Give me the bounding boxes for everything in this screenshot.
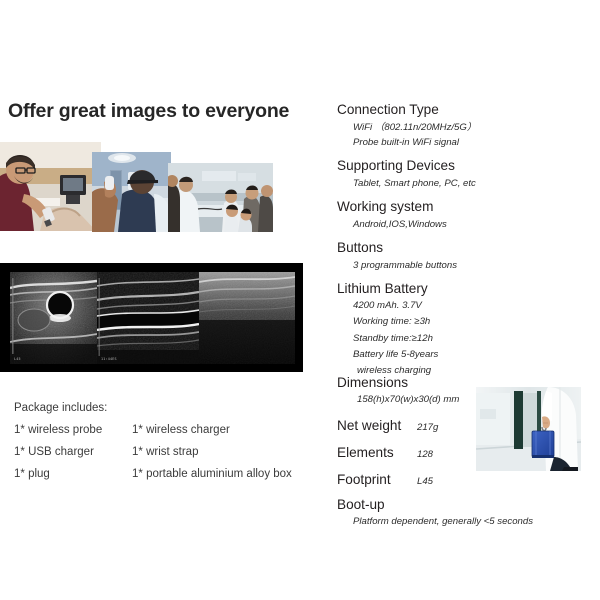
spec-key-footprint: Footprint (337, 472, 417, 487)
ultrasound-frame-muscle (199, 272, 295, 364)
spec-value-battery-standby-time: Standby time:≥12h (353, 333, 595, 344)
spec-value-footprint: L45 (417, 476, 433, 487)
group-training-session-photo (168, 163, 273, 232)
spec-value-connection-wifi: WiFi （802.11n/20MHz/5G） (353, 122, 595, 133)
package-item: 1* plug (14, 468, 132, 480)
package-item: 1* wireless charger (132, 424, 230, 436)
spec-value-elements: 128 (417, 449, 433, 460)
spec-value-buttons: 3 programmable buttons (353, 260, 595, 271)
spec-heading-connection-type: Connection Type (337, 103, 595, 117)
spec-value-battery-life: Battery life 5-8years (353, 349, 595, 360)
package-title: Package includes: (14, 402, 324, 414)
spec-heading-working-system: Working system (337, 200, 595, 214)
clinician-holding-probe-photo (92, 152, 171, 232)
package-item: 1* USB charger (14, 446, 132, 458)
spec-heading-lithium-battery: Lithium Battery (337, 282, 595, 296)
spec-heading-boot-up: Boot-up (337, 498, 595, 512)
spec-value-boot-up: Platform dependent, generally <5 seconds (353, 516, 595, 527)
spec-value-battery-working-time: Working time: ≥3h (353, 316, 595, 327)
package-item: 1* wrist strap (132, 446, 198, 458)
spec-value-net-weight: 217g (417, 422, 438, 433)
spec-heading-supporting-devices: Supporting Devices (337, 159, 595, 173)
ultrasound-frame-tag: L45 (14, 357, 21, 361)
package-item: 1* wireless probe (14, 424, 132, 436)
spec-heading-buttons: Buttons (337, 241, 595, 255)
spec-value-working-system: Android,IOS,Windows (353, 219, 595, 230)
spec-value-battery-capacity: 4200 mAh. 3.7V (353, 300, 595, 311)
ultrasound-image-strip: L45 (0, 263, 303, 372)
photo-collage (0, 142, 280, 234)
ultrasound-frame-tag: 11:44ES (101, 357, 117, 361)
ultrasound-frame-nerve: L45 (10, 272, 97, 364)
package-row: 1* wireless probe 1* wireless charger (14, 424, 324, 436)
ultrasound-frame-vessel: 11:44ES (97, 272, 199, 364)
doctor-carrying-case-photo (476, 387, 581, 471)
package-includes-block: Package includes: 1* wireless probe 1* w… (14, 402, 324, 490)
spec-value-connection-probe: Probe built-in WiFi signal (353, 137, 595, 148)
page-title: Offer great images to everyone (8, 100, 289, 123)
package-row: 1* USB charger 1* wrist strap (14, 446, 324, 458)
spec-key-elements: Elements (337, 445, 417, 460)
spec-row-footprint: Footprint L45 (337, 472, 595, 487)
package-item: 1* portable aluminium alloy box (132, 468, 292, 480)
spec-key-net-weight: Net weight (337, 418, 417, 433)
package-row: 1* plug 1* portable aluminium alloy box (14, 468, 324, 480)
spec-value-supporting-devices: Tablet, Smart phone, PC, etc (353, 178, 595, 189)
clinician-scanning-patient-photo (0, 142, 101, 231)
slide-canvas: Offer great images to everyone (0, 0, 600, 600)
spec-value-wireless-charging: wireless charging (357, 365, 595, 376)
